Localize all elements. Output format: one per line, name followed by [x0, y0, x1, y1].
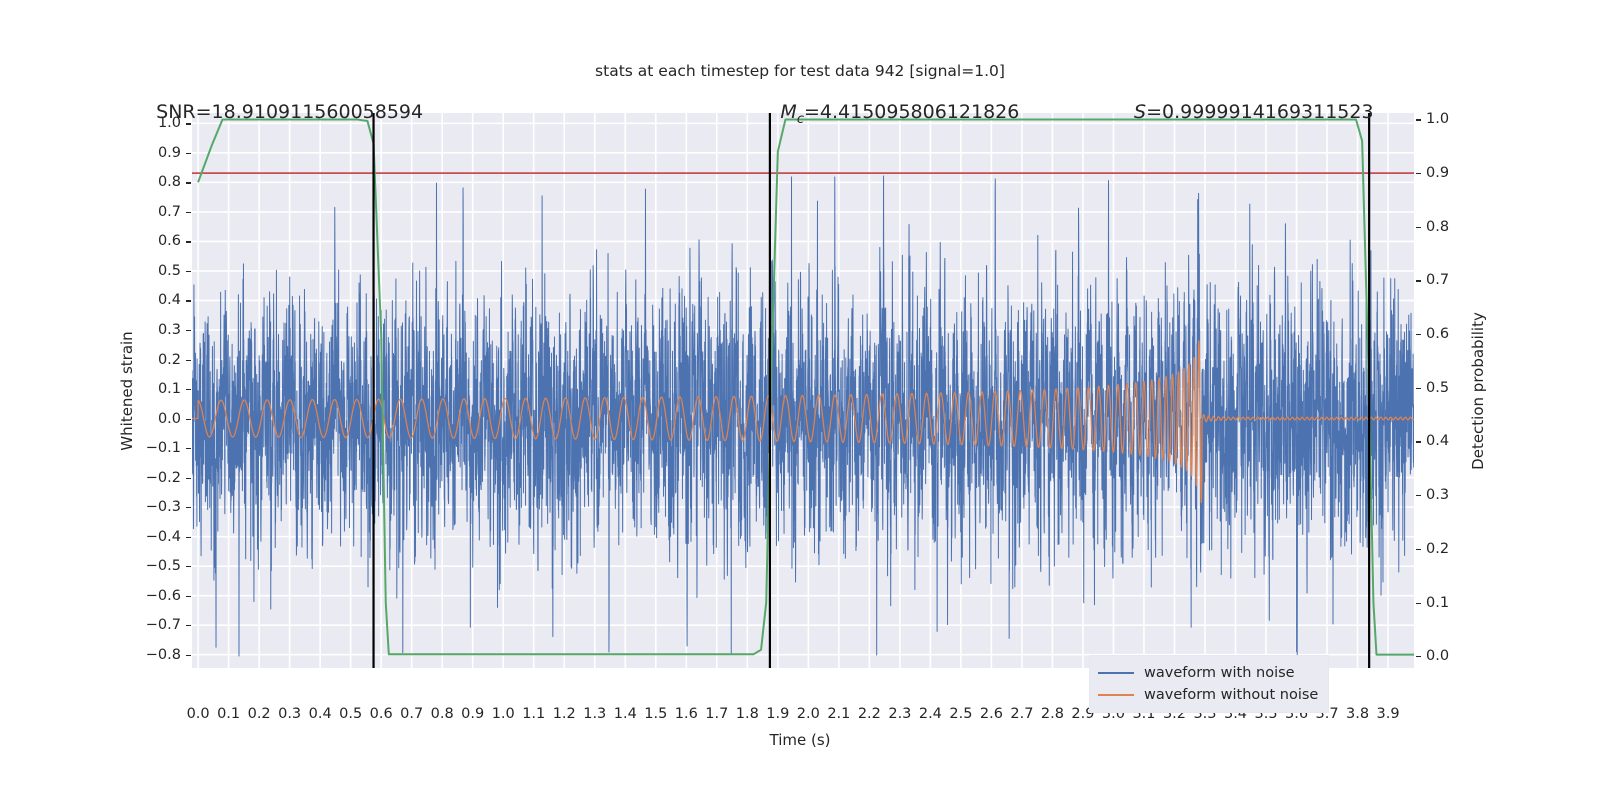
y-axis-left-label: Whitened strain	[118, 331, 136, 450]
x-axis-tick-label: 0.6	[370, 706, 393, 722]
y-axis-left-tick-label: 0.7	[121, 204, 181, 220]
x-axis-tick-label: 2.2	[858, 706, 881, 722]
y-axis-left-tick-mark	[186, 123, 191, 124]
y-axis-right-tick-label: 0.9	[1426, 165, 1486, 181]
noise-trace	[192, 176, 1414, 656]
y-axis-right-tick-label: 0.0	[1426, 648, 1486, 664]
annotation-score: S=0.9999914169311523	[1134, 101, 1374, 123]
y-axis-left-tick-label: −0.3	[121, 499, 181, 515]
y-axis-left-tick-mark	[186, 625, 191, 626]
y-axis-left-tick-mark	[186, 537, 191, 538]
data-layer	[192, 113, 1414, 668]
y-axis-right-tick-mark	[1416, 441, 1421, 442]
legend-label: waveform with noise	[1144, 665, 1295, 681]
legend-swatch-blue	[1098, 672, 1134, 674]
y-axis-right-tick-mark	[1416, 119, 1421, 120]
x-axis-tick-label: 1.0	[492, 706, 515, 722]
y-axis-right-tick-mark	[1416, 280, 1421, 281]
y-axis-left-tick-mark	[186, 478, 191, 479]
y-axis-right-tick-label: 1.0	[1426, 111, 1486, 127]
y-axis-right-tick-mark	[1416, 388, 1421, 389]
x-axis-tick-label: 3.8	[1346, 706, 1369, 722]
x-axis-tick-label: 2.0	[797, 706, 820, 722]
plot-axes	[192, 113, 1414, 668]
y-axis-left-tick-label: 0.5	[121, 263, 181, 279]
y-axis-left-tick-label: 0.4	[121, 292, 181, 308]
x-axis-tick-label: 2.6	[980, 706, 1003, 722]
y-axis-right-tick-mark	[1416, 495, 1421, 496]
legend-label: waveform without noise	[1144, 687, 1318, 703]
x-axis-tick-label: 0.5	[339, 706, 362, 722]
y-axis-left-tick-mark	[186, 566, 191, 567]
x-axis-tick-label: 1.3	[583, 706, 606, 722]
y-axis-left-tick-mark	[186, 596, 191, 597]
x-axis-tick-label: 1.1	[522, 706, 545, 722]
y-axis-left-tick-label: −0.7	[121, 617, 181, 633]
y-axis-left-tick-mark	[186, 241, 191, 242]
y-axis-right-tick-label: 0.2	[1426, 541, 1486, 557]
y-axis-right-tick-label: 0.1	[1426, 595, 1486, 611]
legend-item: waveform with noise	[1098, 662, 1318, 684]
x-axis-tick-label: 2.1	[827, 706, 850, 722]
y-axis-left-tick-mark	[186, 360, 191, 361]
y-axis-left-tick-mark	[186, 448, 191, 449]
y-axis-left-tick-mark	[186, 300, 191, 301]
x-axis-tick-label: 0.3	[278, 706, 301, 722]
y-axis-right-label: Detection probability	[1469, 312, 1487, 470]
page-title: stats at each timestep for test data 942…	[0, 62, 1600, 80]
x-axis-tick-label: 1.8	[736, 706, 759, 722]
y-axis-left-tick-label: 0.6	[121, 233, 181, 249]
x-axis-tick-label: 1.9	[766, 706, 789, 722]
x-axis-tick-label: 0.1	[217, 706, 240, 722]
x-axis-tick-label: 0.0	[187, 706, 210, 722]
annotation-snr: SNR=18.910911560058594	[156, 101, 423, 123]
y-axis-right-tick-mark	[1416, 603, 1421, 604]
y-axis-right-tick-mark	[1416, 173, 1421, 174]
series-waveform-with-noise	[192, 176, 1414, 656]
x-axis-tick-label: 0.7	[400, 706, 423, 722]
x-axis-tick-label: 2.3	[888, 706, 911, 722]
y-axis-left-tick-label: −0.6	[121, 588, 181, 604]
y-axis-left-tick-mark	[186, 389, 191, 390]
x-axis-tick-label: 2.8	[1041, 706, 1064, 722]
y-axis-right-tick-label: 0.8	[1426, 219, 1486, 235]
y-axis-left-tick-label: −0.2	[121, 470, 181, 486]
x-axis-tick-label: 1.6	[675, 706, 698, 722]
x-axis-tick-label: 1.7	[705, 706, 728, 722]
y-axis-left-tick-label: −0.5	[121, 558, 181, 574]
x-axis-tick-label: 3.9	[1377, 706, 1400, 722]
x-axis-label: Time (s)	[0, 731, 1600, 749]
y-axis-right-tick-label: 0.3	[1426, 487, 1486, 503]
x-axis-tick-label: 2.4	[919, 706, 942, 722]
x-axis-tick-label: 0.4	[309, 706, 332, 722]
annotation-chirp-mass: Mc=4.415095806121826	[780, 101, 1019, 127]
y-axis-left-tick-label: 0.8	[121, 174, 181, 190]
x-axis-tick-label: 1.5	[644, 706, 667, 722]
y-axis-left-tick-label: −0.8	[121, 647, 181, 663]
y-axis-left-tick-mark	[186, 182, 191, 183]
x-axis-tick-label: 1.2	[553, 706, 576, 722]
x-axis-tick-label: 2.5	[949, 706, 972, 722]
y-axis-right-tick-mark	[1416, 334, 1421, 335]
figure-canvas: stats at each timestep for test data 942…	[0, 0, 1600, 800]
y-axis-right-tick-mark	[1416, 549, 1421, 550]
y-axis-left-tick-mark	[186, 212, 191, 213]
legend-item: waveform without noise	[1098, 684, 1318, 706]
y-axis-right-tick-label: 0.7	[1426, 272, 1486, 288]
legend-swatch-orange	[1098, 694, 1134, 696]
y-axis-right-tick-mark	[1416, 227, 1421, 228]
legend: waveform with noise waveform without noi…	[1089, 655, 1329, 713]
x-axis-tick-label: 0.8	[431, 706, 454, 722]
y-axis-left-tick-mark	[186, 419, 191, 420]
y-axis-left-tick-mark	[186, 271, 191, 272]
x-axis-tick-label: 0.2	[248, 706, 271, 722]
y-axis-left-tick-mark	[186, 507, 191, 508]
y-axis-right-tick-mark	[1416, 656, 1421, 657]
x-axis-tick-label: 1.4	[614, 706, 637, 722]
x-axis-tick-label: 2.7	[1010, 706, 1033, 722]
y-axis-left-tick-label: 0.9	[121, 145, 181, 161]
y-axis-left-tick-mark	[186, 153, 191, 154]
y-axis-left-tick-label: −0.4	[121, 529, 181, 545]
x-axis-tick-label: 0.9	[461, 706, 484, 722]
y-axis-left-tick-mark	[186, 655, 191, 656]
y-axis-left-tick-mark	[186, 330, 191, 331]
